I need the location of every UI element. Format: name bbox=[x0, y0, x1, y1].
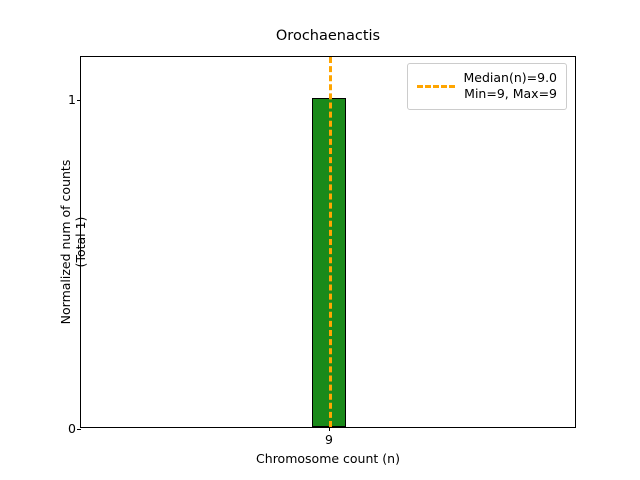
bars-layer bbox=[81, 57, 575, 427]
dashed-line-icon bbox=[417, 85, 455, 88]
legend[interactable]: Median(n)=9.0 Min=9, Max=9 bbox=[407, 63, 568, 110]
x-tick-mark bbox=[329, 427, 330, 431]
figure-canvas: Orochaenactis 0 1 9 Median(n)=9.0 Min=9,… bbox=[0, 0, 640, 480]
y-axis-label-line1: Normalized num of counts bbox=[58, 160, 73, 325]
x-axis-label: Chromosome count (n) bbox=[80, 452, 576, 466]
y-axis-label-line2: (Total 1) bbox=[73, 217, 88, 268]
y-tick-mark bbox=[77, 429, 81, 430]
median-line bbox=[329, 57, 332, 427]
chart-title: Orochaenactis bbox=[80, 28, 576, 45]
y-axis-label: Normalized num of counts (Total 1) bbox=[56, 56, 90, 428]
legend-range-label: Min=9, Max=9 bbox=[464, 86, 557, 102]
plot-area: 0 1 9 Median(n)=9.0 Min=9, Max=9 bbox=[80, 56, 576, 428]
legend-entry-text: Median(n)=9.0 Min=9, Max=9 bbox=[464, 70, 558, 102]
legend-median-label: Median(n)=9.0 bbox=[464, 70, 558, 86]
x-tick-label: 9 bbox=[325, 433, 333, 446]
